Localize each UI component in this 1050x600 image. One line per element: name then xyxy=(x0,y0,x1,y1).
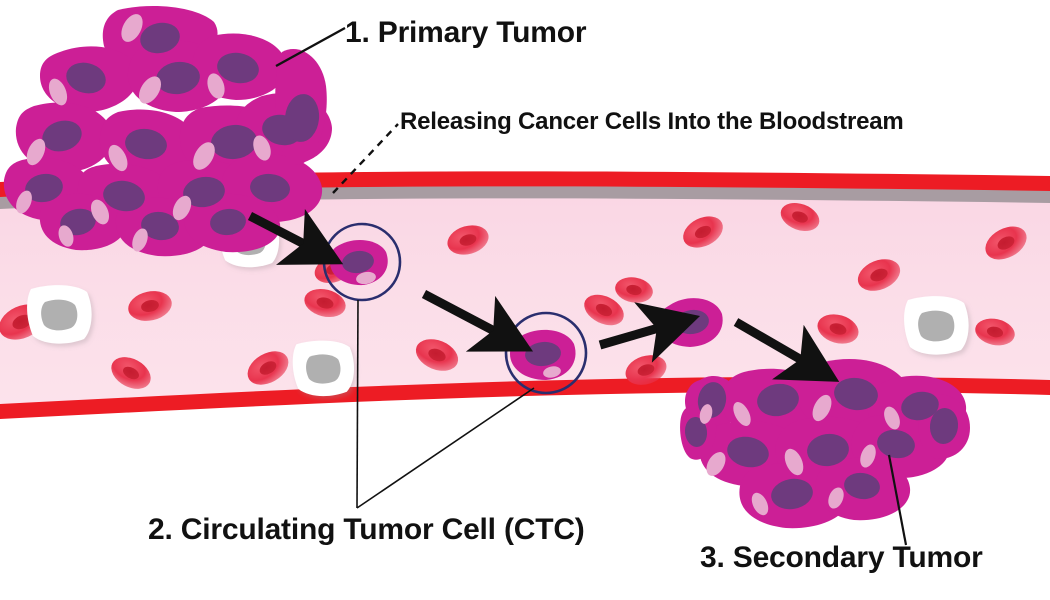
label-releasing-cancer-cells: Releasing Cancer Cells Into the Bloodstr… xyxy=(400,108,904,136)
secondary-tumor-mass xyxy=(680,359,970,528)
label-secondary-tumor: 3. Secondary Tumor xyxy=(700,541,983,575)
label-circulating-tumor-cell: 2. Circulating Tumor Cell (CTC) xyxy=(148,513,585,547)
leader-ctc-1 xyxy=(357,300,358,508)
metastasis-diagram: 1. Primary Tumor Releasing Cancer Cells … xyxy=(0,0,1050,600)
primary-tumor-mass xyxy=(4,6,332,256)
diagram-canvas xyxy=(0,0,1050,600)
label-primary-tumor: 1. Primary Tumor xyxy=(345,16,586,50)
leader-ctc-2 xyxy=(357,388,534,508)
